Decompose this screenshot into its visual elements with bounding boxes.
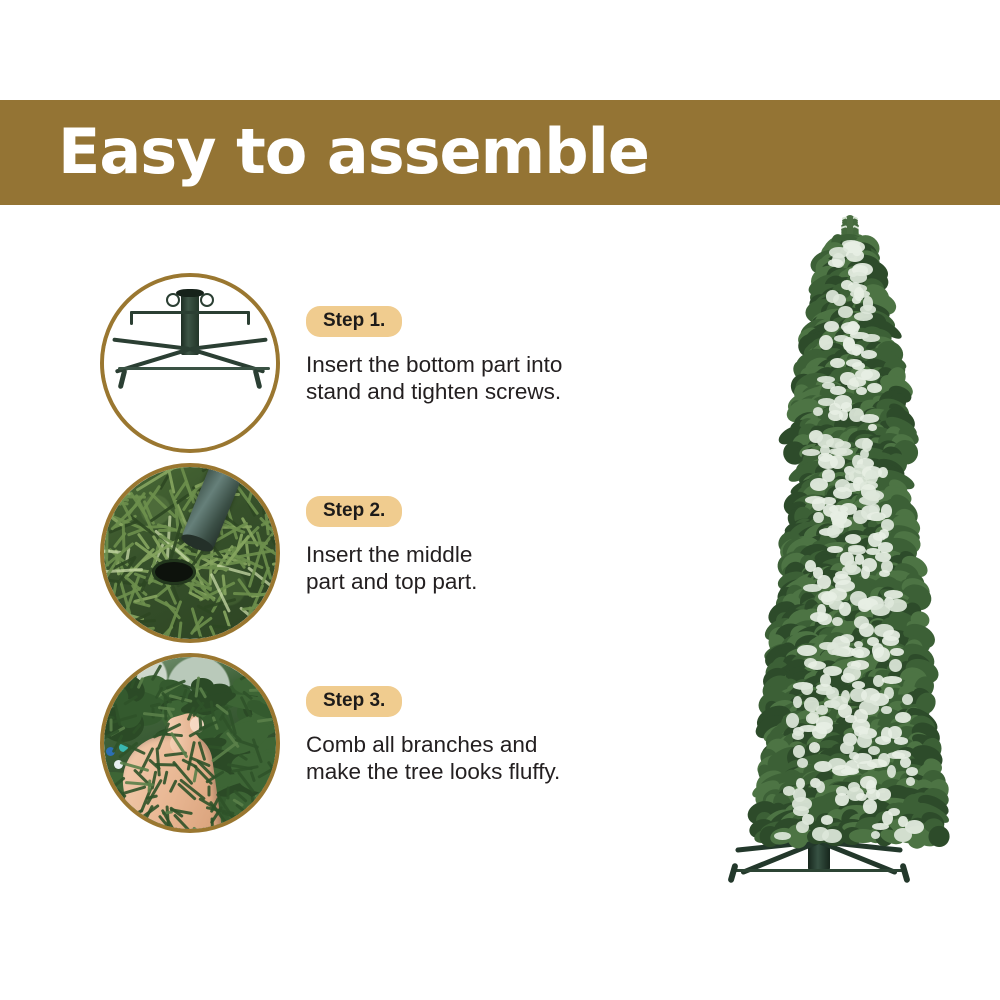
stand-leg	[190, 338, 268, 351]
tree-middle-section	[700, 455, 1000, 655]
stand-crossbar	[118, 367, 270, 370]
screw-knob	[166, 293, 180, 307]
step-3-text: Step 3. Comb all branches and make the t…	[306, 686, 636, 786]
list-item: Step 2. Insert the middle part and top p…	[0, 463, 640, 648]
step-badge: Step 3.	[306, 686, 402, 717]
stand-arm-tip	[130, 311, 133, 325]
pole-into-socket-photo	[104, 467, 276, 639]
step-description: Insert the bottom part into stand and ti…	[306, 351, 636, 406]
step-2-text: Step 2. Insert the middle part and top p…	[306, 496, 636, 596]
step-1-text: Step 1. Insert the bottom part into stan…	[306, 306, 636, 406]
tree-top-section	[700, 245, 1000, 455]
hand-combing-branches-photo	[104, 657, 276, 829]
list-item: Step 3. Comb all branches and make the t…	[0, 653, 640, 838]
screw-knob	[200, 293, 214, 307]
stand-arm	[188, 311, 250, 314]
step-badge: Step 1.	[306, 306, 402, 337]
header-banner: Easy to assemble	[0, 100, 1000, 205]
snow-tipped-christmas-tree	[700, 205, 1000, 905]
stand-arm	[130, 311, 192, 314]
list-item: Step 1. Insert the bottom part into stan…	[0, 273, 640, 458]
step-description: Comb all branches and make the tree look…	[306, 731, 636, 786]
page-title: Easy to assemble	[58, 120, 649, 182]
step-1-image	[100, 273, 280, 453]
step-2-image	[100, 463, 280, 643]
product-infographic: Easy to assemble	[0, 0, 1000, 1000]
pole-socket	[152, 559, 196, 585]
step-description: Insert the middle part and top part.	[306, 541, 636, 596]
tree-stand-photo	[104, 277, 276, 449]
step-badge: Step 2.	[306, 496, 402, 527]
stand-foot	[899, 863, 910, 884]
stand-foot	[727, 863, 738, 884]
stand-arm-tip	[247, 311, 250, 325]
step-3-image	[100, 653, 280, 833]
tree-bottom-section	[700, 655, 1000, 840]
steps-list: Step 1. Insert the bottom part into stan…	[0, 205, 640, 855]
stand-leg	[112, 338, 190, 351]
stand-crossbar	[732, 869, 906, 872]
